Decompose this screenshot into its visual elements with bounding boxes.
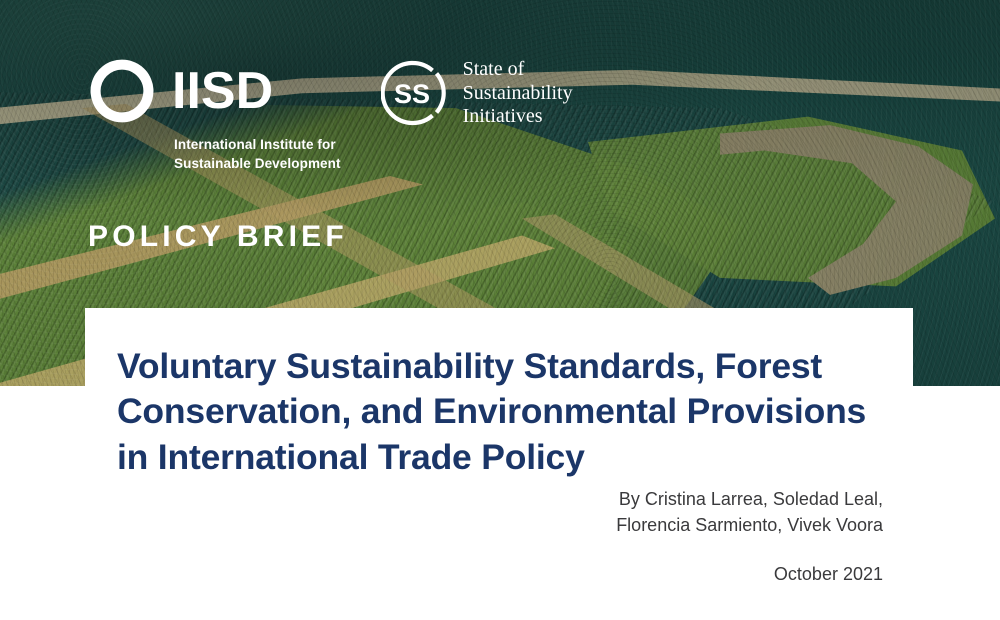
document-kicker: POLICY BRIEF <box>88 222 348 252</box>
iisd-ring-logo-icon <box>86 55 158 127</box>
policy-brief-cover: IISD International Institute for Sustain… <box>0 0 1000 620</box>
iisd-logo[interactable]: IISD International Institute for Sustain… <box>86 55 341 173</box>
logo-bar: IISD International Institute for Sustain… <box>86 55 573 173</box>
ssi-circle-logo-icon: SS <box>381 59 449 127</box>
authors-line: By Cristina Larrea, Soledad Leal, Floren… <box>0 486 883 538</box>
byline-block: By Cristina Larrea, Soledad Leal, Floren… <box>0 486 1000 587</box>
title-panel: Voluntary Sustainability Standards, Fore… <box>85 308 913 480</box>
iisd-tagline: International Institute for Sustainable … <box>174 136 341 173</box>
ssi-logo[interactable]: SS State of Sustainability Initiatives <box>381 58 573 129</box>
iisd-wordmark: IISD <box>172 65 273 117</box>
ssi-name: State of Sustainability Initiatives <box>463 58 573 129</box>
svg-text:SS: SS <box>394 79 430 109</box>
publication-date: October 2021 <box>0 561 883 587</box>
page-title: Voluntary Sustainability Standards, Fore… <box>85 344 913 480</box>
